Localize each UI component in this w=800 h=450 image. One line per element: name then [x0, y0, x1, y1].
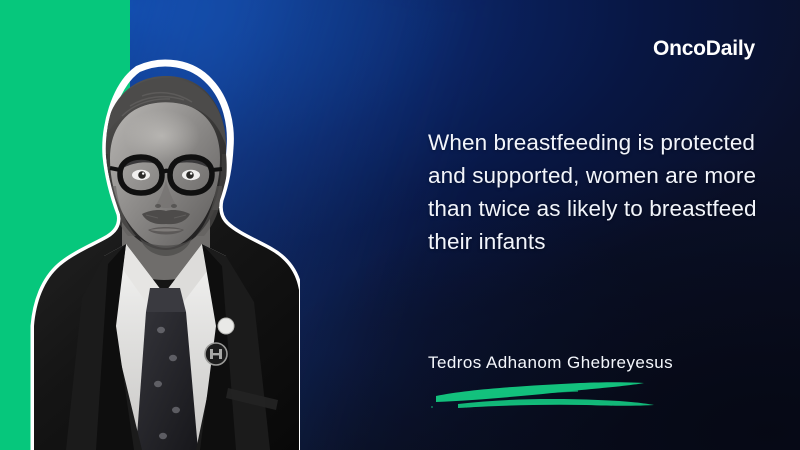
- quote-line-4: their infants: [428, 225, 758, 258]
- quote-line-3: than twice as likely to breastfeed: [428, 192, 758, 225]
- portrait-image: [30, 58, 300, 450]
- brush-underline-icon: [430, 380, 656, 410]
- attribution-name: Tedros Adhanom Ghebreyesus: [428, 352, 758, 374]
- quote-line-1: When breastfeeding is protected: [428, 126, 758, 159]
- quote-line-2: and supported, women are more: [428, 159, 758, 192]
- attribution: Tedros Adhanom Ghebreyesus: [428, 352, 758, 374]
- quote-text: When breastfeeding is protected and supp…: [428, 126, 758, 258]
- quote-card: OncoDaily When breastfeeding is protecte…: [0, 0, 800, 450]
- brand-logo: OncoDaily: [653, 38, 755, 59]
